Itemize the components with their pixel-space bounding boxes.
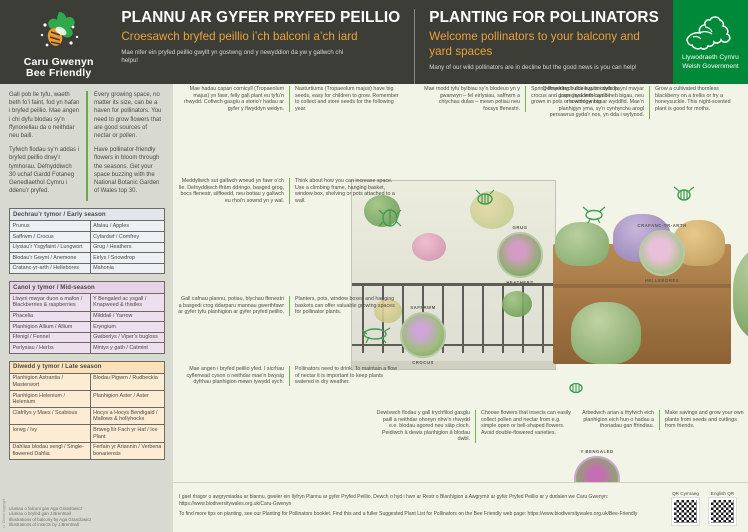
plant-name-welsh: Clafrllys y Maes / Scabious xyxy=(10,408,91,425)
medallion-hellebores: CRAFANC-YR-ARTH HELLEBORES xyxy=(633,224,691,282)
gov-logo-text: Llywodraeth Cymru Welsh Government xyxy=(682,54,739,71)
annotation-english: Think about how you can increase space. … xyxy=(289,178,401,204)
annotation-welsh: Gall cafnau plannu, potiau, blychau ffen… xyxy=(177,296,289,316)
welsh-government-logo: Llywodraeth Cymru Welsh Government xyxy=(673,0,748,84)
section-header-label: Canol y tymor / Mid-season xyxy=(10,282,165,294)
bee-friendly-logo-icon xyxy=(33,9,85,55)
sidebar: Gall pob lle tyfu, waeth beth fo’i faint… xyxy=(0,84,173,532)
plant-name-welsh: Llysiau’r Ysgyfaint / Lungwort xyxy=(10,242,91,253)
welsh-dragon-icon xyxy=(679,13,741,51)
annotation-english: Grow a cultivated thornless blackberry o… xyxy=(649,86,743,119)
intro-english: Every growing space, no matter its size,… xyxy=(86,91,165,201)
annotation-welsh: Dewiswch flodau y gall trychfilod gasglu… xyxy=(375,410,475,443)
planter-plant xyxy=(555,222,609,266)
plant-name-welsh: Dahlias blodau sengl / Single-flowered D… xyxy=(10,442,91,459)
balcony-plant xyxy=(502,291,532,317)
planter-plant xyxy=(571,302,641,364)
plant-table-mid: Canol y tymor / Mid-seasonLlwyni mwyar d… xyxy=(9,281,165,354)
plant-name-welsh: Perlysiau / Herbs xyxy=(10,343,91,354)
bee-icon xyxy=(473,188,497,208)
qr-english-caption: English QR xyxy=(709,491,736,496)
plant-name-english: Y Bengaled ac ysgall / Knapweed & thistl… xyxy=(90,294,164,311)
plant-name-welsh: Cratanc-yr-arth / Hellebores xyxy=(10,263,91,274)
section-header-label: Dechrau’r tymor / Early season xyxy=(10,209,165,221)
title-english: PLANTING FOR POLLINATORS xyxy=(429,9,659,26)
annotation-welsh: Mae hadau capan cornicyll (Tropaeolum ma… xyxy=(177,86,289,112)
wasp-icon xyxy=(673,184,695,204)
illustration-stage: SAFFRWM CROCUS GRUG HEATHERS CRAFANC-YR-… xyxy=(173,84,748,532)
plant-name-welsh: Phacelia xyxy=(10,311,91,322)
subtitle-welsh: Croesawch bryfed peillio i’ch balconi a’… xyxy=(121,29,400,44)
brand-block: Caru Gwenyn Bee Friendly xyxy=(0,0,117,84)
plant-table: Dechrau’r tymor / Early seasonPrunusAfal… xyxy=(9,208,165,459)
annotation-english: Pollinators need to drink. To maintain a… xyxy=(289,366,401,386)
qr-codes: QR Cymraeg English QR xyxy=(672,491,740,525)
plant-name-welsh: Blodau’r Gwynt / Anemone xyxy=(10,253,91,264)
plant-name-english: Eryngium xyxy=(90,322,164,333)
qr-welsh-caption: QR Cymraeg xyxy=(672,491,699,496)
grasshopper-icon xyxy=(361,324,391,344)
table-row: Llysiau’r Ysgyfaint / LungwortGrug / Hea… xyxy=(10,242,165,253)
table-section-header: Diwedd y tymor / Late season xyxy=(10,361,165,373)
plant-name-english: Cyfardwf / Comfrey xyxy=(90,232,164,243)
header: Caru Gwenyn Bee Friendly PLANNU AR GYFER… xyxy=(0,0,748,84)
title-column-welsh: PLANNU AR GYFER PRYFED PEILLIO Croesawch… xyxy=(117,9,414,84)
table-section-header: Canol y tymor / Mid-season xyxy=(10,282,165,294)
plant-name-welsh: Llwyni mwyar duon a mafon / Blackberries… xyxy=(10,294,91,311)
plant-name-english: Blodau Pigwrn / Rudbeckia xyxy=(90,373,164,390)
bee-icon xyxy=(565,378,587,396)
plant-table-late: Diwedd y tymor / Late seasonPlanhigion A… xyxy=(9,361,165,460)
annotation-welsh: Arbedwch arian a thyfwch eich planhigion… xyxy=(575,410,659,430)
credits-block: Lluniau o falconi gan Aga Grandowicz Llu… xyxy=(9,506,169,528)
medallion-heathers: GRUG HEATHERS xyxy=(491,226,549,284)
table-row: Llwyni mwyar duon a mafon / Blackberries… xyxy=(10,294,165,311)
plant-name-english: Afalau / Apples xyxy=(90,221,164,232)
medallion-label-top: Y BENGALED xyxy=(568,449,626,454)
medallion-label-top: GRUG xyxy=(491,225,549,230)
plant-name-english: Ferfain yr Ariannin / Verbena bonariensi… xyxy=(90,442,164,459)
plant-name-english: Planhigion Aster / Aster xyxy=(90,391,164,408)
qr-welsh[interactable]: QR Cymraeg xyxy=(672,491,699,525)
brand-name-cy: Caru Gwenyn xyxy=(24,56,94,68)
title-column-english: PLANTING FOR POLLINATORS Welcome pollina… xyxy=(414,9,673,84)
table-row: Planhigion Allium / AlliumEryngium xyxy=(10,322,165,333)
plant-name-welsh: Prunus xyxy=(10,221,91,232)
gov-logo-cy: Llywodraeth Cymru xyxy=(682,54,739,61)
planter-plant xyxy=(733,244,748,342)
title-welsh: PLANNU AR GYFER PRYFED PEILLIO xyxy=(121,9,400,26)
medallion-label-top: SAFFRWM xyxy=(394,305,452,310)
table-section-header: Dechrau’r tymor / Early season xyxy=(10,209,165,221)
plant-name-english: Hocys a Hocys Bendigaid / Mallows & holl… xyxy=(90,408,164,425)
header-body-welsh: Mae nifer ein pryfed peillio gwyllt yn g… xyxy=(121,49,356,65)
intro-english-p1: Every growing space, no matter its size,… xyxy=(94,91,165,140)
annotation-savings: Arbedwch arian a thyfwch eich planhigion… xyxy=(575,410,745,430)
table-row: Saffrwm / CrocusCyfardwf / Comfrey xyxy=(10,232,165,243)
plant-name-welsh: Planhigion Allium / Allium xyxy=(10,322,91,333)
plant-name-english: Grug / Heathers xyxy=(90,242,164,253)
medallion-label-bottom: HELLEBORES xyxy=(633,278,691,283)
plant-name-welsh: Ffenigl / Fennel xyxy=(10,332,91,343)
plant-name-english: Eirlys / Snowdrop xyxy=(90,253,164,264)
intro-welsh-p1: Gall pob lle tyfu, waeth beth fo’i faint… xyxy=(9,91,80,140)
footer-english: To find more tips on planting, see our P… xyxy=(179,511,672,518)
title-area: PLANNU AR GYFER PRYFED PEILLIO Croesawch… xyxy=(117,0,673,84)
medallion-label-bottom: HEATHERS xyxy=(491,280,549,285)
annotation-flower-shape: Dewiswch flodau y gall trychfilod gasglu… xyxy=(375,410,573,443)
table-row: PrunusAfalau / Apples xyxy=(10,221,165,232)
credit-line: Illustrations of insects by J.Brentnall xyxy=(9,522,169,528)
annotation-english: Choose flowers that insects can easily c… xyxy=(475,410,573,443)
medallion-label-bottom: CROCUS xyxy=(394,360,452,365)
plant-name-welsh: Saffrwm / Crocus xyxy=(10,232,91,243)
intro-welsh-p2: Tyfwch flodau sy’n addas i bryfed peilli… xyxy=(9,146,80,195)
qr-english[interactable]: English QR xyxy=(709,491,736,525)
copyright-vertical-note: © Crown copyright xyxy=(2,488,9,528)
medallion-image xyxy=(497,232,543,278)
footer-text: I gael rhagor o awgrymiadau ar blannu, g… xyxy=(179,494,672,521)
annotation-water: Mae angen i bryfed peillio yfed. I sicrh… xyxy=(177,366,401,386)
plant-name-english: Gwiberlys / Viper’s bugloss xyxy=(90,332,164,343)
plant-name-english: Mahonia xyxy=(90,263,164,274)
header-body-english: Many of our wild pollinators are in decl… xyxy=(429,64,659,72)
table-row: Planhigion Astrantia / MasterwortBlodau … xyxy=(10,373,165,390)
medallion-image xyxy=(639,230,685,276)
plant-name-english: Milddail / Yarrow xyxy=(90,311,164,322)
medallion-crocus: SAFFRWM CROCUS xyxy=(394,306,452,364)
table-row: Blodau’r Gwynt / AnemoneEirlys / Snowdro… xyxy=(10,253,165,264)
annotation-blackberry: Defnyddiwch ddeilwaith i dyfu llwyni mwy… xyxy=(543,86,743,119)
annotation-welsh: Mae angen i bryfed peillio yfed. I sicrh… xyxy=(177,366,289,386)
beetle-icon xyxy=(377,206,403,228)
annotation-welsh: Meddyliwch sut gallwch wneud yn fawr o’c… xyxy=(177,178,289,204)
content-area: Gall pob lle tyfu, waeth beth fo’i faint… xyxy=(0,84,748,532)
gov-logo-en: Welsh Government xyxy=(682,63,738,70)
footer-welsh: I gael rhagor o awgrymiadau ar blannu, g… xyxy=(179,494,672,507)
table-row: Iorwg / IvyBriweg llir Fach yr Haf / Ice… xyxy=(10,425,165,442)
table-row: Perlysiau / HerbsMintys y gath / Catmint xyxy=(10,343,165,354)
plant-table-early: Dechrau’r tymor / Early seasonPrunusAfal… xyxy=(9,208,165,274)
balcony-plant xyxy=(412,233,446,261)
medallion-image xyxy=(400,312,446,358)
annotation-space: Meddyliwch sut gallwch wneud yn fawr o’c… xyxy=(177,178,401,204)
poster: Caru Gwenyn Bee Friendly PLANNU AR GYFER… xyxy=(0,0,748,532)
plant-name-welsh: Iorwg / Ivy xyxy=(10,425,91,442)
brand-name: Caru Gwenyn Bee Friendly xyxy=(24,57,94,80)
annotation-nasturtium: Mae hadau capan cornicyll (Tropaeolum ma… xyxy=(177,86,401,112)
plant-name-english: Briweg llir Fach yr Haf / Ice Plant xyxy=(90,425,164,442)
footer: I gael rhagor o awgrymiadau ar blannu, g… xyxy=(173,482,748,532)
brand-name-en: Bee Friendly xyxy=(26,67,91,79)
table-row: PhaceliaMilddail / Yarrow xyxy=(10,311,165,322)
subtitle-english: Welcome pollinators to your balcony and … xyxy=(429,29,659,59)
qr-code-image[interactable] xyxy=(672,498,699,525)
intro-english-p2: Have pollinator-friendly flowers in bloo… xyxy=(94,146,165,195)
plant-name-welsh: Planhigion Helenium / Helenium xyxy=(10,391,91,408)
annotation-english: Nasturtiums (Tropaeolum majus) have big … xyxy=(289,86,401,112)
annotation-planters: Gall cafnau plannu, potiau, blychau ffen… xyxy=(177,296,401,316)
annotation-welsh: Defnyddiwch ddeilwaith i dyfu llwyni mwy… xyxy=(543,86,649,119)
annotation-welsh: Mae modd tyfu bylbiau sy’n blodeuo yn y … xyxy=(423,86,525,112)
table-row: Dahlias blodau sengl / Single-flowered D… xyxy=(10,442,165,459)
section-header-label: Diwedd y tymor / Late season xyxy=(10,361,165,373)
intro-welsh: Gall pob lle tyfu, waeth beth fo’i faint… xyxy=(9,91,80,201)
table-row: Planhigion Helenium / HeleniumPlanhigion… xyxy=(10,391,165,408)
plant-name-english: Mintys y gath / Catmint xyxy=(90,343,164,354)
table-row: Cratanc-yr-arth / HelleboresMahonia xyxy=(10,263,165,274)
table-row: Ffenigl / FennelGwiberlys / Viper’s bugl… xyxy=(10,332,165,343)
annotation-english: Planters, pots, window boxes and hanging… xyxy=(289,296,401,316)
table-row: Clafrllys y Maes / ScabiousHocys a Hocys… xyxy=(10,408,165,425)
qr-code-image[interactable] xyxy=(709,498,736,525)
intro-block: Gall pob lle tyfu, waeth beth fo’i faint… xyxy=(9,91,165,201)
hoverfly-icon xyxy=(581,204,607,224)
plant-name-welsh: Planhigion Astrantia / Masterwort xyxy=(10,373,91,390)
medallion-label-top: CRAFANC-YR-ARTH xyxy=(633,223,691,228)
annotation-english: Make savings and grow your own plants fr… xyxy=(659,410,745,430)
